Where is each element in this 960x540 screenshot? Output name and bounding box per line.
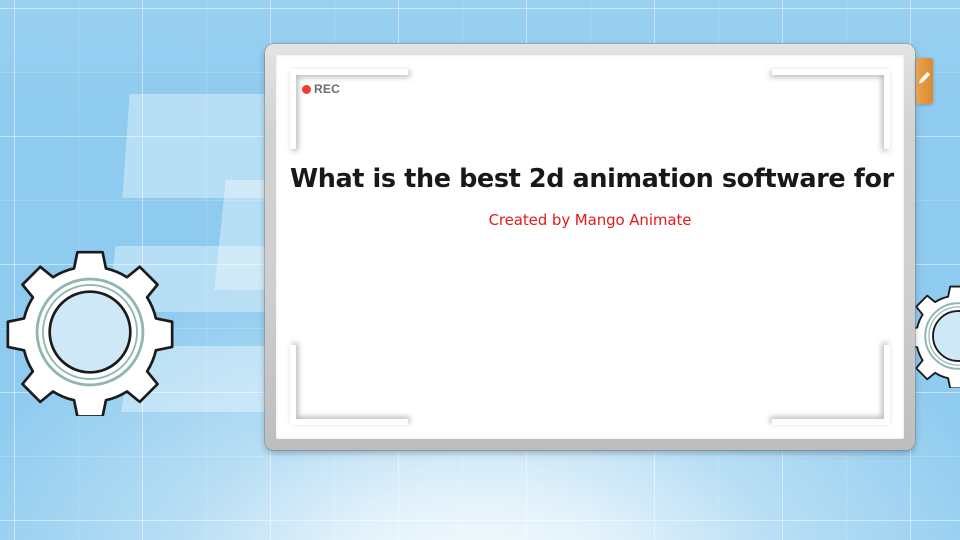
page-title: What is the best 2d animation software f… — [290, 165, 890, 194]
slide-surface: REC What is the best 2d animation softwa… — [276, 55, 904, 439]
edit-tab-button[interactable] — [916, 58, 933, 104]
corner-bracket-top-right — [772, 69, 890, 149]
corner-bracket-top-left — [290, 69, 408, 149]
gear-icon — [6, 248, 174, 416]
pencil-icon — [917, 69, 932, 91]
slide-canvas: REC What is the best 2d animation softwa… — [0, 0, 960, 540]
slide-subtitle: Created by Mango Animate — [290, 211, 890, 229]
record-dot-icon — [302, 85, 311, 94]
slide-text-block: What is the best 2d animation software f… — [276, 165, 904, 229]
presentation-frame: REC What is the best 2d animation softwa… — [265, 44, 915, 450]
corner-bracket-bottom-right — [772, 345, 890, 425]
corner-bracket-bottom-left — [290, 345, 408, 425]
recording-label: REC — [314, 83, 340, 95]
recording-indicator: REC — [302, 83, 340, 95]
